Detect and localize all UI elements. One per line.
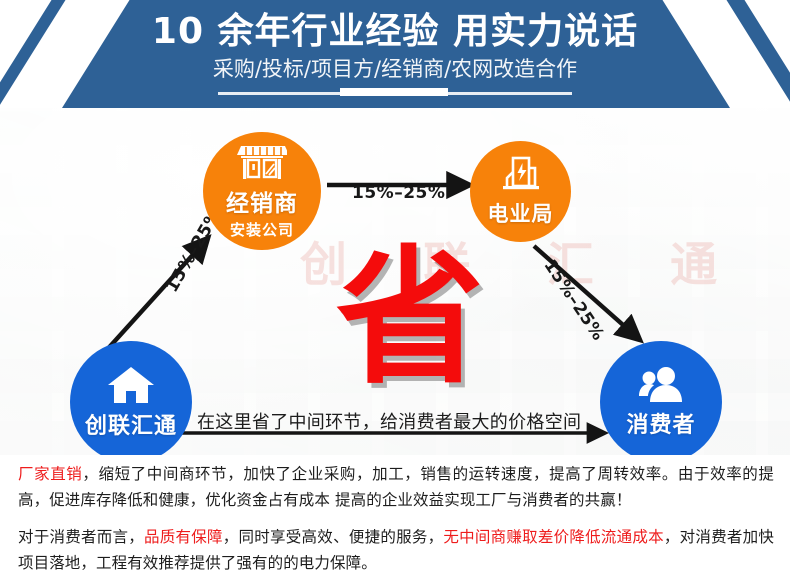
body-text: ，缩短了中间商环节，加快了企业采购，加工，销售的运转速度，提高了周转效率。由于效… — [18, 465, 774, 509]
infographic-page: 10 余年行业经验 用实力说话 采购/投标/项目方/经销商/农网改造合作 创 联… — [0, 0, 790, 571]
header-subtitle: 采购/投标/项目方/经销商/农网改造合作 — [0, 56, 790, 82]
body-text: ，同时享受高效、便捷的服务， — [223, 528, 444, 546]
footer-paragraph-2: 对于消费者而言，品质有保障，同时享受高效、便捷的服务，无中间商赚取差价降低流通成… — [18, 524, 774, 571]
header-banner: 10 余年行业经验 用实力说话 采购/投标/项目方/经销商/农网改造合作 — [0, 0, 790, 108]
body-text: 对于消费者而言， — [18, 528, 144, 546]
footer-text-block: 厂家直销，缩短了中间商环节，加快了企业采购，加工，销售的运转速度，提高了周转效率… — [0, 455, 790, 571]
users-icon — [636, 366, 686, 404]
node-consumer-label: 消费者 — [626, 407, 695, 439]
node-company-label: 创联汇通 — [85, 408, 177, 440]
highlight-text: 品质有保障 — [144, 528, 223, 546]
diagram-bottom-caption: 在这里省了中间环节，给消费者最大的价格空间 — [197, 408, 581, 434]
highlight-text: 无中间商赚取差价降低流通成本 — [443, 528, 664, 546]
diagram-stage: 创 联 汇 通 15%–25% 15%–25% 15%–25% 省 在这里省了中… — [0, 108, 790, 455]
storefront-icon — [237, 143, 287, 181]
node-company[interactable]: 创联汇通 — [70, 341, 192, 455]
home-icon — [106, 365, 156, 405]
header-title: 10 余年行业经验 用实力说话 — [0, 10, 790, 54]
node-dealer-sublabel: 安装公司 — [230, 219, 294, 240]
node-consumer[interactable]: 消费者 — [600, 341, 722, 455]
save-character: 省 — [336, 244, 484, 392]
footer-paragraph-1: 厂家直销，缩短了中间商环节，加快了企业采购，加工，销售的运转速度，提高了周转效率… — [18, 461, 774, 513]
power-building-icon — [499, 156, 543, 194]
node-bureau-label: 电业局 — [488, 198, 554, 228]
node-dealer[interactable]: 经销商 安装公司 — [203, 132, 321, 250]
node-bureau[interactable]: 电业局 — [470, 141, 571, 242]
header-rule-center — [340, 88, 448, 96]
arrow-label-dealer-to-bureau: 15%–25% — [352, 183, 445, 203]
highlight-text: 厂家直销 — [18, 465, 82, 483]
node-dealer-label: 经销商 — [226, 184, 298, 218]
